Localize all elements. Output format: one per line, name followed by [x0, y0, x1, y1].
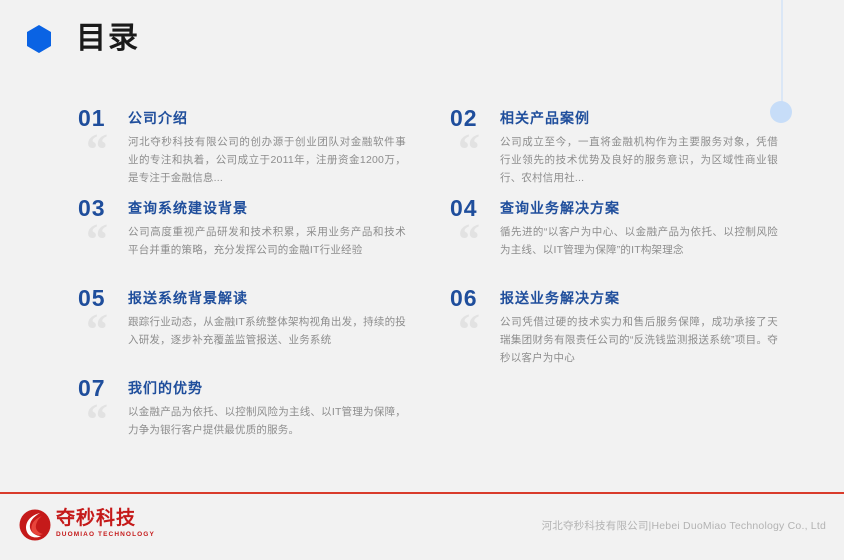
toc-item-title[interactable]: 报送系统背景解读 — [128, 288, 248, 308]
toc-item-description: 公司凭借过硬的技术实力和售后服务保障，成功承接了天瑞集团财务有限责任公司的“反洗… — [500, 313, 778, 367]
logo-name-cn: 夺秒科技 — [56, 508, 158, 530]
logo-text: 夺秒科技 DUOMIAO TECHNOLOGY — [56, 508, 158, 540]
toc-item-title[interactable]: 查询系统建设背景 — [128, 198, 248, 218]
quote-mark-icon: “ — [86, 218, 108, 262]
quote-mark-icon: “ — [86, 308, 108, 352]
toc-item-description: 循先进的“以客户为中心、以金融产品为依托、以控制风险为主线、以IT管理为保障”的… — [500, 223, 778, 259]
toc-item-07[interactable]: 07 我们的优势 “ 以金融产品为依托、以控制风险为主线、以IT管理为保障，力争… — [78, 375, 408, 465]
toc-item-title[interactable]: 查询业务解决方案 — [500, 198, 620, 218]
toc-item-title[interactable]: 我们的优势 — [128, 378, 203, 398]
toc-item-01[interactable]: 01 公司介绍 “ 河北夺秒科技有限公司的创办源于创业团队对金融软件事业的专注和… — [78, 105, 408, 195]
toc-item-03[interactable]: 03 查询系统建设背景 “ 公司高度重视产品研发和技术积累，采用业务产品和技术平… — [78, 195, 408, 285]
toc-item-description: 跟踪行业动态，从金融IT系统整体架构视角出发，持续的投入研发，逐步补充覆盖监管报… — [128, 313, 406, 349]
hexagon-icon — [18, 18, 64, 64]
toc-item-05[interactable]: 05 报送系统背景解读 “ 跟踪行业动态，从金融IT系统整体架构视角出发，持续的… — [78, 285, 408, 375]
toc-item-title[interactable]: 相关产品案例 — [500, 108, 590, 128]
toc-item-description: 公司成立至今，一直将金融机构作为主要服务对象，凭借行业领先的技术优势及良好的服务… — [500, 133, 778, 187]
quote-mark-icon: “ — [458, 128, 480, 172]
quote-mark-icon: “ — [458, 218, 480, 262]
quote-mark-icon: “ — [86, 398, 108, 442]
quote-mark-icon: “ — [458, 308, 480, 352]
footer-company-note: 河北夺秒科技有限公司|Hebei DuoMiao Technology Co.,… — [542, 518, 826, 534]
toc-item-description: 以金融产品为依托、以控制风险为主线、以IT管理为保障，力争为银行客户提供最优质的… — [128, 403, 406, 439]
slide-header: 目录 — [0, 0, 844, 80]
toc-item-title[interactable]: 报送业务解决方案 — [500, 288, 620, 308]
toc-item-description: 公司高度重视产品研发和技术积累，采用业务产品和技术平台并重的策略，充分发挥公司的… — [128, 223, 406, 259]
page-title: 目录 — [76, 18, 140, 60]
toc-item-06[interactable]: 06 报送业务解决方案 “ 公司凭借过硬的技术实力和售后服务保障，成功承接了天瑞… — [450, 285, 780, 375]
quote-mark-icon: “ — [86, 128, 108, 172]
toc-item-04[interactable]: 04 查询业务解决方案 “ 循先进的“以客户为中心、以金融产品为依托、以控制风险… — [450, 195, 780, 285]
toc-item-02[interactable]: 02 相关产品案例 “ 公司成立至今，一直将金融机构作为主要服务对象，凭借行业领… — [450, 105, 780, 195]
logo-name-en: DUOMIAO TECHNOLOGY — [56, 530, 158, 540]
slide-root: 目录 01 公司介绍 “ 河北夺秒科技有限公司的创办源于创业团队对金融软件事业的… — [0, 0, 844, 560]
duomiao-logo-icon — [18, 508, 52, 542]
slide-footer: 夺秒科技 DUOMIAO TECHNOLOGY 河北夺秒科技有限公司|Hebei… — [0, 494, 844, 560]
toc-list: 01 公司介绍 “ 河北夺秒科技有限公司的创办源于创业团队对金融软件事业的专注和… — [0, 100, 844, 480]
company-logo: 夺秒科技 DUOMIAO TECHNOLOGY — [18, 506, 158, 548]
toc-item-description: 河北夺秒科技有限公司的创办源于创业团队对金融软件事业的专注和执着，公司成立于20… — [128, 133, 406, 187]
toc-item-title[interactable]: 公司介绍 — [128, 108, 188, 128]
